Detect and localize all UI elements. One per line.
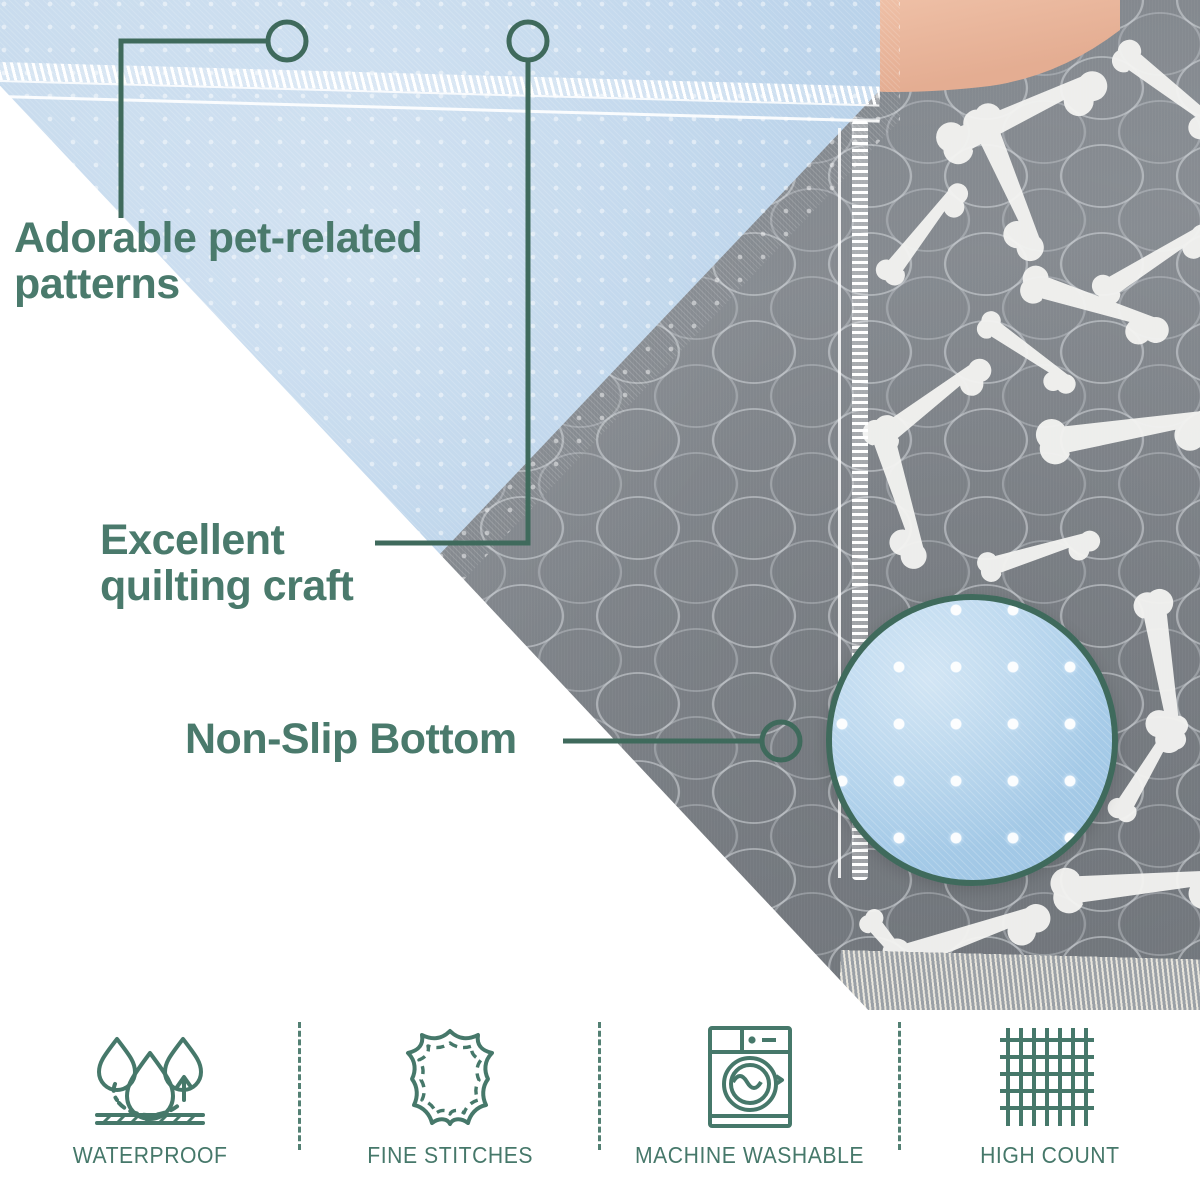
feature-label: HIGH COUNT bbox=[980, 1142, 1120, 1169]
circle-marker-nonslip bbox=[762, 722, 800, 760]
feature-label: FINE STITCHES bbox=[367, 1142, 533, 1169]
product-photo: Adorable pet-related patterns Excellent … bbox=[0, 0, 1200, 1010]
connector-patterns bbox=[121, 41, 266, 218]
circle-marker-patterns bbox=[268, 22, 306, 60]
stitched-hide-icon bbox=[398, 1024, 502, 1130]
infographic-stage: Adorable pet-related patterns Excellent … bbox=[0, 0, 1200, 1200]
callout-label-nonslip: Non-Slip Bottom bbox=[185, 717, 517, 763]
woven-mesh-grid-icon bbox=[998, 1024, 1102, 1130]
feature-fine-stitches: FINE STITCHES bbox=[300, 1010, 600, 1169]
feature-high-count: HIGH COUNT bbox=[900, 1010, 1200, 1169]
feature-bar: WATERPROOF FINE STITCHES bbox=[0, 1010, 1200, 1200]
feature-waterproof: WATERPROOF bbox=[0, 1010, 300, 1169]
callout-connectors bbox=[0, 0, 1200, 1010]
feature-machine-washable: MACHINE WASHABLE bbox=[600, 1010, 900, 1169]
callout-label-patterns: Adorable pet-related patterns bbox=[14, 216, 422, 307]
circle-marker-quilting bbox=[509, 22, 547, 60]
feature-label: MACHINE WASHABLE bbox=[635, 1142, 864, 1169]
washing-machine-icon bbox=[704, 1024, 796, 1130]
water-droplets-repel-icon bbox=[91, 1024, 209, 1130]
feature-label: WATERPROOF bbox=[73, 1142, 228, 1169]
callout-label-quilting: Excellent quilting craft bbox=[100, 518, 353, 609]
